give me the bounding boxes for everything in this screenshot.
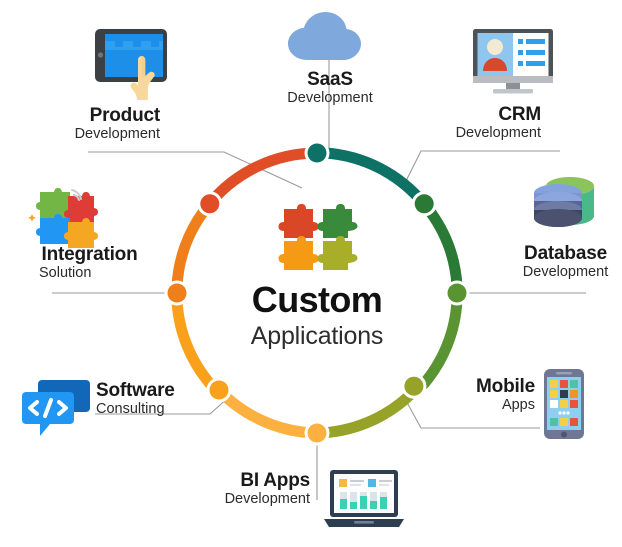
label-saas-sub: Development: [265, 90, 395, 107]
label-bi-apps-sub: Development: [175, 491, 310, 508]
four-piece-puzzle-icon: [270, 203, 366, 275]
diagram-canvas: Custom Applications Product Development …: [0, 0, 622, 547]
label-integration-sub: Solution: [0, 265, 182, 282]
label-mobile-sub: Apps: [400, 397, 535, 414]
code-speech-bubble-icon: [18, 378, 94, 440]
label-database: Database Development: [478, 243, 622, 281]
puzzle-pieces-icon: [28, 188, 100, 250]
center-title-block: Custom Applications: [161, 280, 473, 352]
label-bi-apps-main: BI Apps: [175, 470, 310, 491]
database-cylinder-icon: [528, 170, 600, 242]
label-mobile: Mobile Apps: [400, 376, 535, 414]
label-integration: Integration Solution: [0, 244, 182, 282]
label-software: Software Consulting: [96, 380, 246, 418]
ring-segment-red: [210, 153, 317, 203]
label-database-sub: Development: [478, 264, 622, 281]
smartphone-icon: [543, 368, 585, 440]
laptop-chart-icon: [322, 468, 406, 530]
label-product-main: Product: [0, 105, 160, 126]
label-crm: CRM Development: [396, 104, 541, 142]
node-saas[interactable]: [308, 144, 327, 163]
tablet-touch-icon: [93, 27, 175, 105]
label-software-main: Software: [96, 380, 246, 401]
center-title: Custom: [161, 280, 473, 320]
label-crm-sub: Development: [396, 125, 541, 142]
label-product: Product Development: [0, 105, 160, 143]
label-bi-apps: BI Apps Development: [175, 470, 310, 508]
label-crm-main: CRM: [396, 104, 541, 125]
ring-segment-darkgreen: [431, 212, 457, 286]
label-database-main: Database: [478, 243, 622, 264]
label-saas: SaaS Development: [265, 69, 395, 107]
label-integration-main: Integration: [0, 244, 182, 265]
node-bi-apps[interactable]: [308, 424, 327, 443]
node-crm[interactable]: [415, 194, 434, 213]
label-software-sub: Consulting: [96, 401, 246, 418]
label-mobile-main: Mobile: [400, 376, 535, 397]
ring-segment-teal: [325, 153, 424, 204]
monitor-contact-icon: [469, 27, 561, 99]
label-product-sub: Development: [0, 126, 160, 143]
center-subtitle: Applications: [161, 320, 473, 352]
cloud-icon: [283, 8, 376, 63]
node-product[interactable]: [200, 194, 219, 213]
label-saas-main: SaaS: [265, 69, 395, 90]
